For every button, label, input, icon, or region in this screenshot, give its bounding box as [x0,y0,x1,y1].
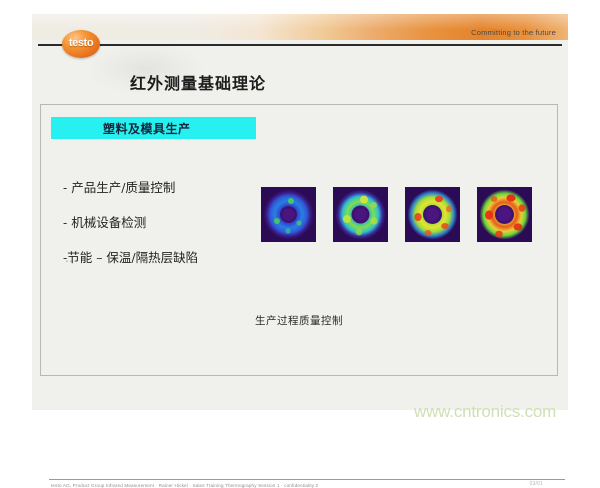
thermal-ring-1 [261,187,316,242]
section-label: 塑料及模具生产 [103,120,191,137]
thermal-ring-2-graphic [333,187,388,242]
footer-credit: testo AG, Product Group Infrared Measure… [51,483,318,488]
footer-page-number: 03/01 [529,481,543,487]
thermal-ring-2 [333,187,388,242]
section-highlight-bar: 塑料及模具生产 [51,117,256,139]
page-title: 红外测量基础理论 [130,70,266,94]
slide-canvas: Committing to the future testo 红外测量基础理论 … [0,0,600,424]
image-caption: 生产过程质量控制 [41,313,557,328]
thermal-ring-3-graphic [405,187,460,242]
thermal-image-strip [261,187,541,243]
thermal-ring-3 [405,187,460,242]
company-tagline: Committing to the future [471,28,556,37]
testo-logo: testo [62,30,100,58]
list-item: -节能 – 保温/隔热层缺陷 [63,247,293,266]
content-card: 塑料及模具生产 - 产品生产/质量控制 - 机械设备检测 -节能 – 保温/隔热… [40,104,558,376]
thermal-ring-1-graphic [261,187,316,242]
site-watermark: www.cntronics.com [414,402,556,422]
logo-wordmark: testo [64,37,98,49]
header-divider-rule [38,44,562,46]
slide-page: Committing to the future testo 红外测量基础理论 … [32,14,568,410]
footer-divider [49,479,565,480]
thermal-ring-4-graphic [477,187,532,242]
list-continuation-ellipsis: … [65,251,78,265]
thermal-ring-4 [477,187,532,242]
bullet-list: - 产品生产/质量控制 - 机械设备检测 -节能 – 保温/隔热层缺陷 [63,177,293,282]
list-item: - 产品生产/质量控制 [63,177,293,196]
list-item: - 机械设备检测 [63,212,293,231]
